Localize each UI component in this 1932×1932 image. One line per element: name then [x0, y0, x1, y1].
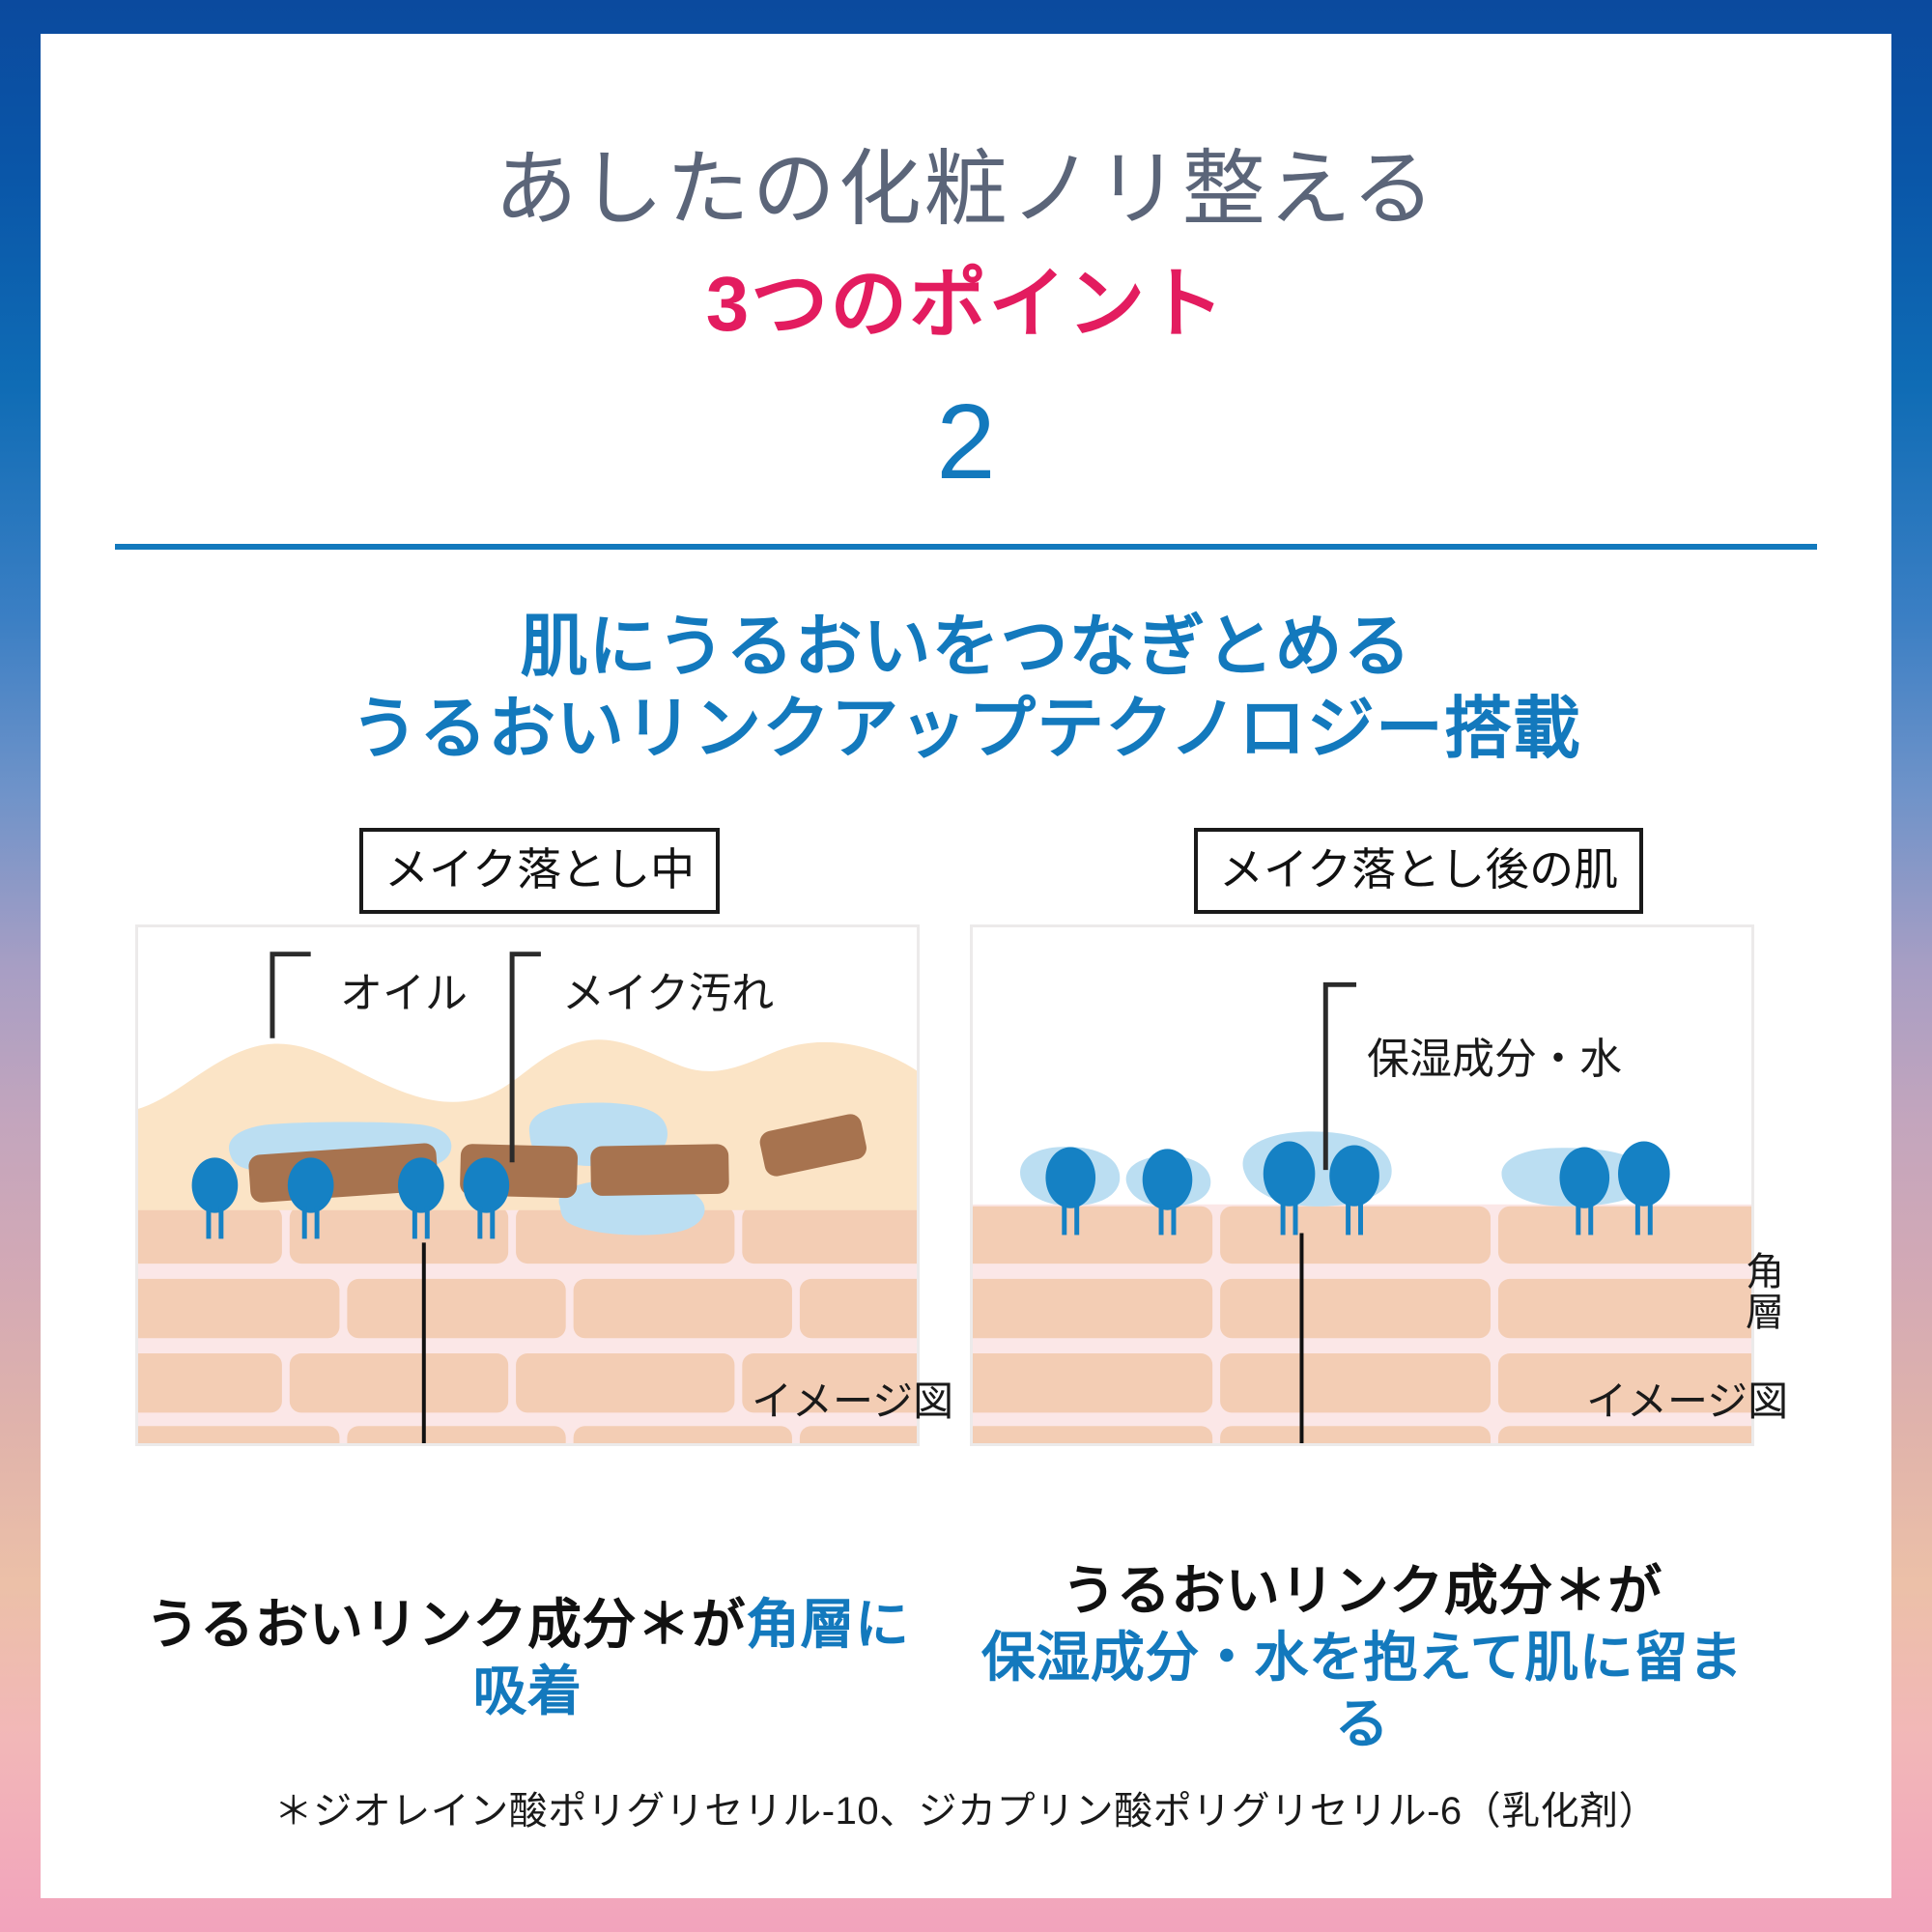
stratum-char-1: 角	[1743, 1253, 1787, 1293]
panel-tag-right: メイク落とし後の肌	[1194, 828, 1643, 914]
technology-subtitle-line1: 肌にうるおいをつなぎとめる	[41, 606, 1891, 688]
annotation-stratum-corneum: 角 層	[1743, 1253, 1787, 1333]
page-title: あしたの化粧ノリ整える	[41, 148, 1891, 231]
technology-subtitle-line2: うるおいリンクアップテクノロジー搭載	[41, 688, 1891, 770]
annotation-makeup-dirt: メイク汚れ	[562, 973, 774, 1015]
header-divider	[115, 544, 1817, 550]
technology-subtitle: 肌にうるおいをつなぎとめる うるおいリンクアップテクノロジー搭載	[41, 606, 1891, 771]
footnote: ＊ジオレイン酸ポリグリセリル-10、ジカプリン酸ポリグリセリル-6（乳化剤）	[41, 1792, 1891, 1831]
caption-left-black: うるおいリンク成分＊が	[146, 1594, 747, 1655]
caption-right-black: うるおいリンク成分＊が	[970, 1558, 1754, 1625]
white-card: あしたの化粧ノリ整える 3つのポイント 2 肌にうるおいをつなぎとめる うるおい…	[41, 34, 1891, 1898]
diagram-panel-during-removal	[135, 924, 920, 1446]
diagram-svg-right	[973, 927, 1751, 1443]
panel-tag-left: メイク落とし中	[359, 828, 720, 914]
infographic-root: あしたの化粧ノリ整える 3つのポイント 2 肌にうるおいをつなぎとめる うるおい…	[0, 0, 1932, 1932]
diagram-svg-left	[138, 927, 917, 1443]
caption-right: うるおいリンク成分＊が 保湿成分・水を抱えて肌に留まる	[970, 1558, 1754, 1758]
page-subtitle: 3つのポイント	[41, 266, 1891, 343]
annotation-oil: オイル	[340, 973, 468, 1015]
image-note-right: イメージ図	[1586, 1381, 1788, 1422]
point-number: 2	[41, 389, 1891, 496]
image-note-left: イメージ図	[752, 1381, 953, 1422]
annotation-moisture: 保湿成分・水	[1367, 1038, 1622, 1081]
caption-left: うるおいリンク成分＊が角層に吸着	[135, 1592, 920, 1725]
stratum-char-2: 層	[1743, 1293, 1787, 1334]
caption-right-blue: 保湿成分・水を抱えて肌に留まる	[970, 1625, 1754, 1758]
diagram-panel-after-removal	[970, 924, 1754, 1446]
